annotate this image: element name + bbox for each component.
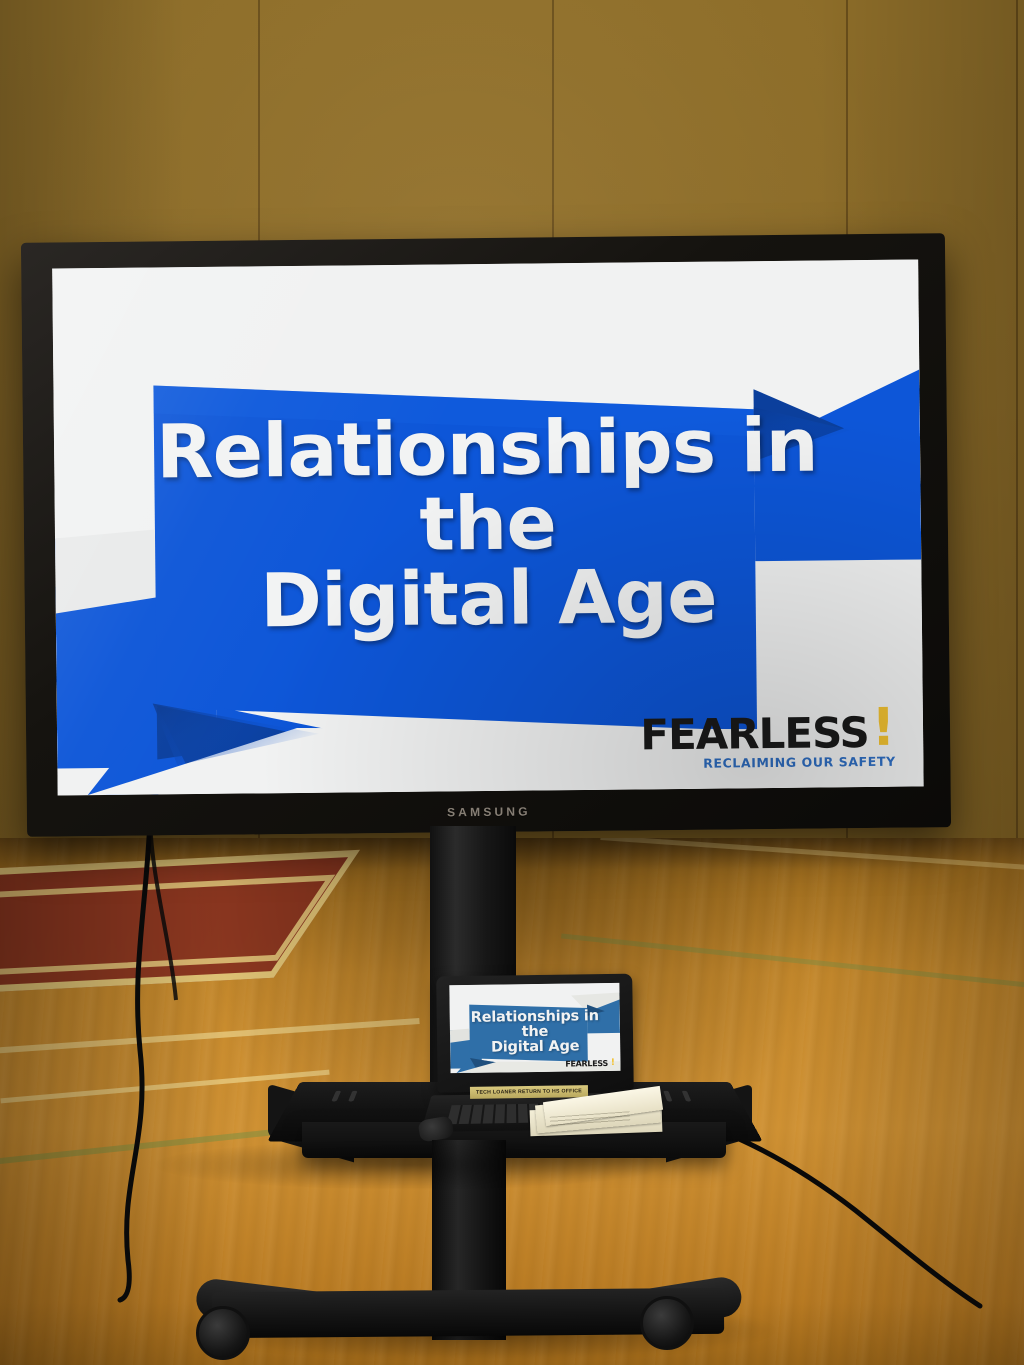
logo-wordmark: FEARLESS (640, 712, 869, 756)
caster-wheel-right (640, 1296, 694, 1350)
laptop-fearless-logo: FEARLESS ! (565, 1059, 615, 1069)
presentation-slide: Relationships in the Digital Age FEARLES… (52, 259, 923, 795)
tray-slot (348, 1091, 357, 1102)
exclamation-icon: ! (871, 702, 895, 754)
laptop-slide-title-line1: Relationships in the (462, 1009, 609, 1041)
cart-shadow (150, 1140, 670, 1190)
wall-display[interactable]: Relationships in the Digital Age FEARLES… (21, 233, 951, 837)
laptop-slide-title: Relationships in the Digital Age (462, 1009, 609, 1055)
laptop-screen: Relationships in the Digital Age FEARLES… (449, 983, 620, 1073)
laptop-exclamation-icon: ! (611, 1059, 615, 1068)
paper-stack[interactable] (530, 1090, 680, 1140)
slide-title-line1: Relationships in the (114, 408, 860, 567)
photo-scene: Relationships in the Digital Age FEARLES… (0, 0, 1024, 1365)
laptop-slide-title-line2: Digital Age (462, 1039, 608, 1056)
caster-wheel-left (196, 1306, 250, 1360)
laptop[interactable]: Relationships in the Digital Age FEARLES… (436, 974, 634, 1093)
laptop-logo-wordmark: FEARLESS (565, 1060, 608, 1069)
tray-slot (331, 1091, 341, 1102)
laptop-presentation-slide: Relationships in the Digital Age FEARLES… (449, 983, 620, 1073)
slide-title: Relationships in the Digital Age (114, 408, 861, 642)
samsung-logo: SAMSUNG (447, 805, 531, 820)
fearless-logo: FEARLESS ! RECLAIMING OUR SAFETY (640, 702, 896, 771)
slide-title-line2: Digital Age (116, 559, 861, 642)
display-screen: Relationships in the Digital Age FEARLES… (52, 259, 923, 795)
tray-slot (682, 1091, 692, 1102)
